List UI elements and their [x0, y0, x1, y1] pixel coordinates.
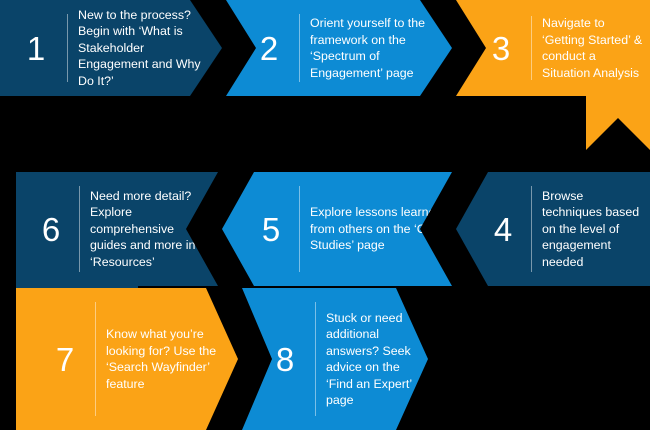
step-text-6: Need more detail? Explore comprehensive … [90, 188, 218, 271]
step-text-1: New to the process? Begin with ‘What is … [78, 7, 222, 90]
process-flow-diagram: 1 New to the process? Begin with ‘What i… [0, 0, 650, 430]
step-divider [79, 186, 80, 272]
step-number-8: 8 [264, 343, 306, 376]
process-step-3[interactable]: 3 Navigate to ‘Getting Started’ & conduc… [456, 0, 650, 150]
step-divider [95, 302, 96, 416]
step-number-5: 5 [252, 213, 290, 246]
process-step-7[interactable]: 7 Know what you’re looking for? Use the … [16, 288, 238, 430]
step-text-8: Stuck or need additional answers? Seek a… [326, 310, 428, 409]
step-number-2: 2 [248, 32, 290, 65]
step-divider [299, 14, 300, 82]
process-step-2[interactable]: 2 Orient yourself to the framework on th… [226, 0, 452, 96]
process-step-1[interactable]: 1 New to the process? Begin with ‘What i… [0, 0, 222, 96]
step-divider [531, 16, 532, 80]
step-divider [531, 186, 532, 272]
step-divider [299, 186, 300, 272]
step-number-4: 4 [484, 213, 522, 246]
step-text-5: Explore lessons learned from others on t… [310, 204, 452, 254]
step-text-3: Navigate to ‘Getting Started’ & conduct … [542, 15, 650, 81]
process-step-5[interactable]: 5 Explore lessons learned from others on… [222, 172, 452, 286]
step-number-7: 7 [44, 343, 86, 376]
step-number-6: 6 [32, 213, 70, 246]
step-divider [315, 302, 316, 416]
step-text-7: Know what you’re looking for? Use the ‘S… [106, 326, 238, 392]
step-text-2: Orient yourself to the framework on the … [310, 15, 452, 81]
step-divider [67, 14, 68, 82]
step-number-1: 1 [14, 32, 58, 65]
process-step-8[interactable]: 8 Stuck or need additional answers? Seek… [242, 288, 428, 430]
step-number-3: 3 [480, 32, 522, 65]
process-step-4[interactable]: 4 Browse techniques based on the level o… [456, 172, 650, 286]
step-text-4: Browse techniques based on the level of … [542, 188, 650, 271]
